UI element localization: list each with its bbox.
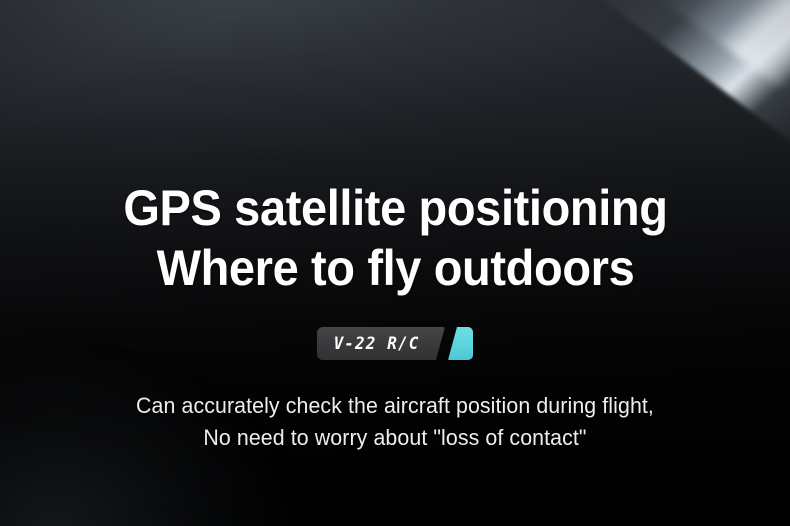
headline-line-2: Where to fly outdoors <box>123 238 667 298</box>
subtitle: Can accurately check the aircraft positi… <box>136 390 654 454</box>
banner-content: GPS satellite positioning Where to fly o… <box>0 0 790 526</box>
subtitle-line-2: No need to worry about "loss of contact" <box>136 422 654 454</box>
model-badge: V-22 R/C <box>317 327 473 360</box>
badge-accent-block <box>448 327 473 360</box>
headline-line-1: GPS satellite positioning <box>123 178 667 238</box>
subtitle-line-1: Can accurately check the aircraft positi… <box>136 390 654 422</box>
badge-label: V-22 R/C <box>317 326 436 360</box>
headline: GPS satellite positioning Where to fly o… <box>123 178 667 298</box>
promo-banner: GPS satellite positioning Where to fly o… <box>0 0 790 526</box>
